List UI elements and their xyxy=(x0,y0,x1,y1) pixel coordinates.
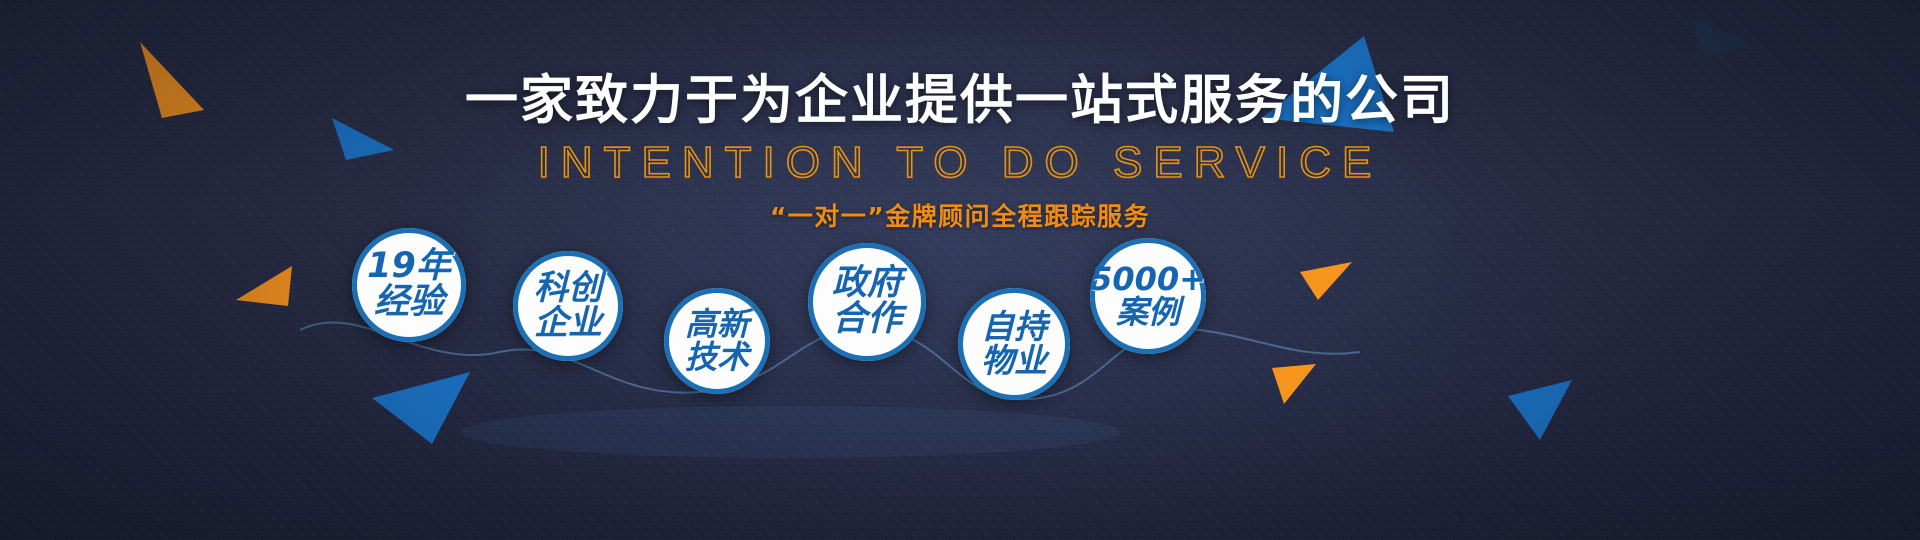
bubble-label: 5000+案例 xyxy=(1090,263,1206,328)
bubble-label-line1: 5000+ xyxy=(1090,263,1206,296)
bubble-label-line2: 企业 xyxy=(534,306,602,341)
bubble-label-line2: 技术 xyxy=(685,341,749,374)
bubble-label: 科创企业 xyxy=(534,271,602,340)
feature-bubble-case-count[interactable]: 5000+案例 xyxy=(1090,238,1206,354)
floor-glow xyxy=(460,406,1120,458)
bubble-label-line1: 自持 xyxy=(981,310,1047,344)
feature-bubble-government-coop[interactable]: 政府合作 xyxy=(808,243,926,361)
feature-bubble-self-owned-property[interactable]: 自持物业 xyxy=(958,288,1070,400)
promo-banner: 一家致力于为企业提供一站式服务的公司 INTENTION TO DO SERVI… xyxy=(0,0,1920,540)
triangle-orange-bottom-right-icon xyxy=(1272,364,1316,404)
bubble-label: 高新技术 xyxy=(685,308,749,373)
feature-bubble-tech-startup[interactable]: 科创企业 xyxy=(513,251,623,361)
triangle-orange-mid-left-icon xyxy=(236,266,292,306)
bubble-label: 19年经验 xyxy=(367,249,451,320)
feature-bubble-high-tech[interactable]: 高新技术 xyxy=(664,288,770,394)
bubble-label: 自持物业 xyxy=(981,310,1047,377)
bubble-label: 政府合作 xyxy=(832,266,902,337)
triangle-blue-bottom-right-icon xyxy=(1508,380,1572,440)
triangle-blue-bottom-left-icon xyxy=(372,372,470,444)
bubble-label-line1: 19年 xyxy=(367,249,451,285)
triangle-blue-top-right-2-icon xyxy=(1690,16,1752,58)
bubble-label-line2: 物业 xyxy=(981,344,1047,378)
bubble-label-line2: 经验 xyxy=(367,285,451,321)
bubble-label-line1: 高新 xyxy=(685,308,749,341)
tagline: “一对一”金牌顾问全程跟踪服务 xyxy=(0,197,1920,233)
triangle-orange-mid-right-icon xyxy=(1300,262,1352,300)
page-title: 一家致力于为企业提供一站式服务的公司 xyxy=(0,72,1920,129)
feature-bubble-years-experience[interactable]: 19年经验 xyxy=(352,228,466,342)
english-subtitle: INTENTION TO DO SERVICE xyxy=(0,138,1920,188)
bubble-label-line2: 合作 xyxy=(832,302,902,338)
bubble-label-line1: 科创 xyxy=(534,271,602,306)
bubble-label-line1: 政府 xyxy=(832,266,902,302)
bubble-label-line2: 案例 xyxy=(1090,296,1206,329)
